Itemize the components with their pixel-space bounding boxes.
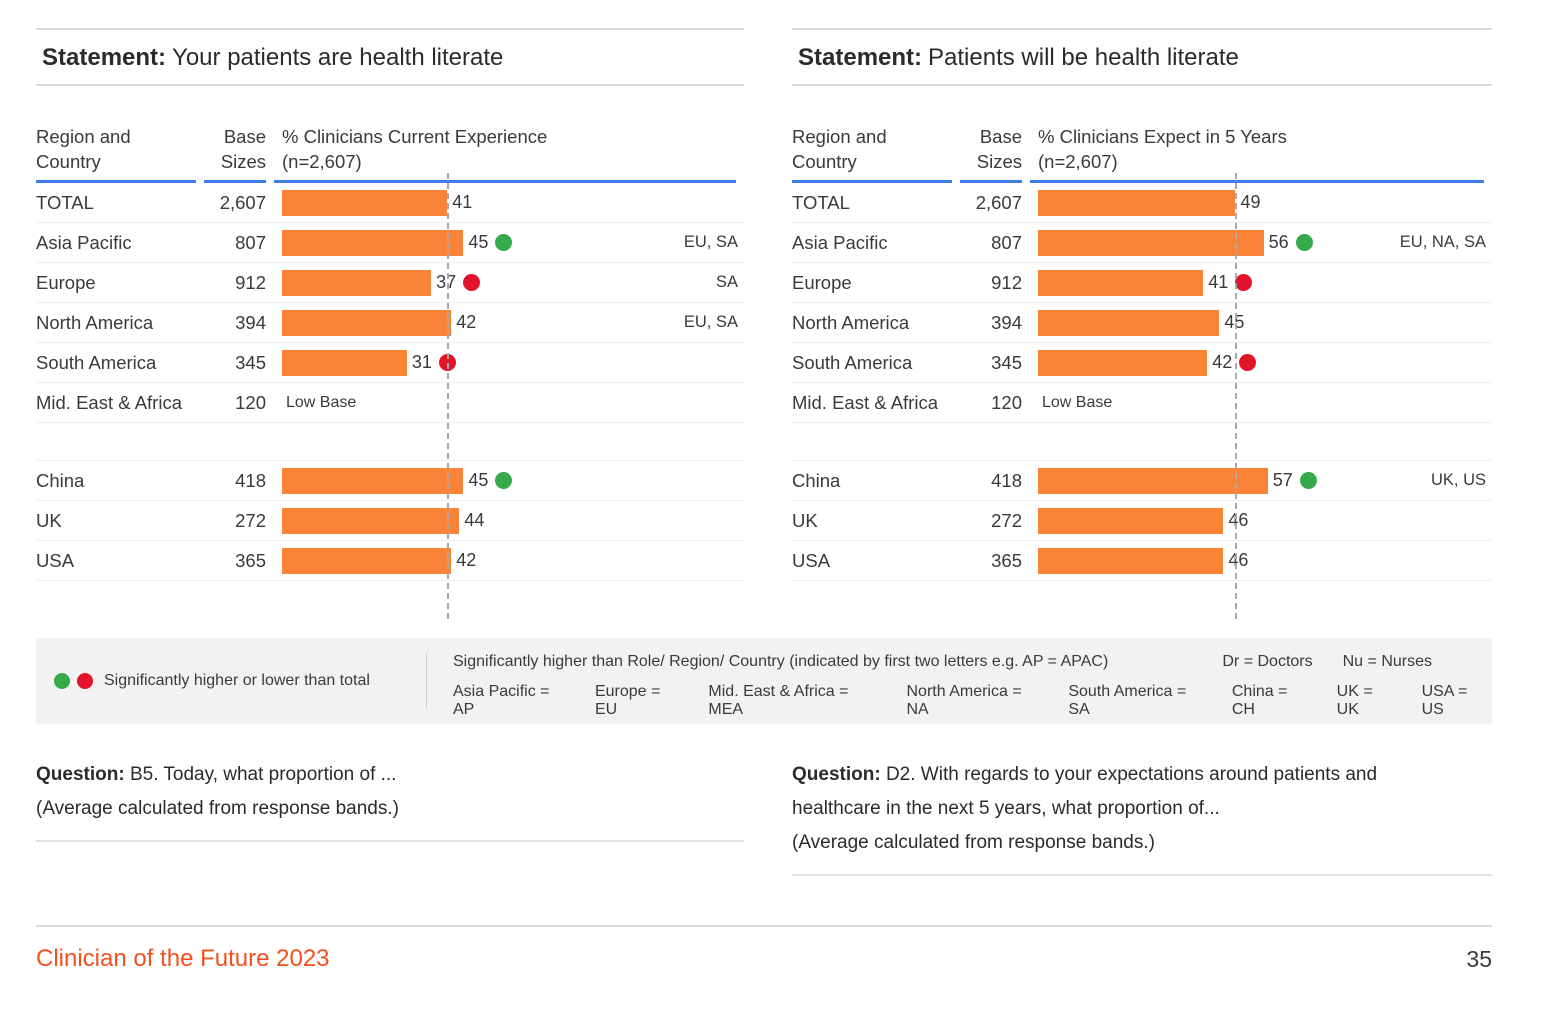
footer: Clinician of the Future 2023 35	[36, 945, 1492, 973]
row-bar-cell: 42	[1030, 343, 1492, 382]
row-bar-cell: 42EU, SA	[274, 303, 744, 342]
question-line: healthcare in the next 5 years, what pro…	[792, 792, 1492, 826]
row-label: China	[36, 461, 196, 500]
row-bar-cell: 41	[274, 183, 744, 222]
table-row: South America34542	[792, 343, 1492, 383]
question-divider-left	[36, 840, 744, 842]
header-base-sizes: Base Sizes	[204, 124, 266, 183]
row-base-size: 2,607	[960, 183, 1022, 222]
question-label: Question:	[36, 764, 125, 785]
bar-value-label: 45	[1224, 312, 1244, 333]
legend-region-abbrev: UK = UK	[1337, 683, 1398, 719]
row-label: USA	[36, 541, 196, 580]
legend-region-abbrev: Europe = EU	[595, 683, 684, 719]
table-row: South America34531	[36, 343, 744, 383]
row-base-size: 807	[960, 223, 1022, 262]
row-label: North America	[792, 303, 952, 342]
question-line: (Average calculated from response bands.…	[36, 792, 744, 826]
row-base-size: 418	[960, 461, 1022, 500]
row-base-size: 272	[204, 501, 266, 540]
panel-left: Statement:Your patients are health liter…	[36, 0, 744, 619]
header-region: Region and Country	[792, 124, 952, 183]
bar-value-label: 42	[1212, 352, 1232, 373]
header-base-line2: Sizes	[960, 149, 1022, 174]
row-bar-cell: 56EU, NA, SA	[1030, 223, 1492, 262]
question-text-left: Question: B5. Today, what proportion of …	[36, 758, 744, 826]
low-base-note: Low Base	[282, 394, 356, 412]
significantly-lower-dot-icon	[439, 354, 456, 371]
table-row: TOTAL2,60749	[792, 183, 1492, 223]
table-row: Asia Pacific80756EU, NA, SA	[792, 223, 1492, 263]
row-bar-cell: 46	[1030, 501, 1492, 540]
question-line-1: healthcare in the next 5 years, what pro…	[792, 798, 1220, 819]
table-bottom-spacer	[792, 581, 1492, 619]
row-label: Mid. East & Africa	[36, 383, 196, 422]
bar-value-label: 44	[464, 510, 484, 531]
significance-vs-letters: EU, SA	[684, 313, 738, 332]
header-chart-line2: (n=2,607)	[1038, 149, 1484, 174]
bar	[1038, 270, 1203, 296]
bar	[282, 270, 431, 296]
statement-right: Statement:Patients will be health litera…	[792, 30, 1492, 84]
legend-region-abbrev: Mid. East & Africa = MEA	[708, 683, 882, 719]
row-label: Mid. East & Africa	[792, 383, 952, 422]
slide: Statement:Your patients are health liter…	[0, 0, 1564, 1022]
header-base-line1: Base	[204, 124, 266, 149]
row-base-size: 2,607	[204, 183, 266, 222]
header-base-line1: Base	[960, 124, 1022, 149]
row-bar-cell: 41	[1030, 263, 1492, 302]
row-label: Europe	[36, 263, 196, 302]
legend-divider	[426, 653, 427, 709]
table-row: China41857UK, US	[792, 461, 1492, 501]
significantly-lower-dot-icon	[463, 274, 480, 291]
row-label: South America	[36, 343, 196, 382]
footer-divider	[36, 925, 1492, 927]
question-line-2: (Average calculated from response bands.…	[792, 832, 1155, 853]
bar-value-label: 45	[468, 470, 488, 491]
legend-region-abbrev: USA = US	[1422, 683, 1492, 719]
table-row: UK27244	[36, 501, 744, 541]
bar	[1038, 468, 1268, 494]
bar-value-label: 41	[452, 192, 472, 213]
bar	[1038, 508, 1223, 534]
table-group-spacer	[36, 423, 744, 461]
legend-role-abbrev: Nu = Nurses	[1343, 653, 1432, 670]
legend: Significantly higher or lower than total…	[36, 638, 1492, 724]
table-row: USA36546	[792, 541, 1492, 581]
question-label: Question:	[792, 764, 881, 785]
significantly-higher-dot-icon	[1300, 472, 1317, 489]
table-row: Europe91237SA	[36, 263, 744, 303]
row-base-size: 365	[960, 541, 1022, 580]
question-line: Question: D2. With regards to your expec…	[792, 758, 1492, 792]
header-region-line2: Country	[36, 149, 196, 174]
question-block-left: Question: B5. Today, what proportion of …	[36, 758, 744, 842]
table-right: Region and Country Base Sizes % Clinicia…	[792, 124, 1492, 619]
header-chart: % Clinicians Current Experience (n=2,607…	[274, 124, 736, 183]
legend-significance-text: Significantly higher or lower than total	[104, 672, 370, 690]
bar	[282, 230, 463, 256]
table-body-right: TOTAL2,60749Asia Pacific80756EU, NA, SAE…	[792, 183, 1492, 619]
row-bar-cell: 44	[274, 501, 744, 540]
header-region-line2: Country	[792, 149, 952, 174]
table-left: Region and Country Base Sizes % Clinicia…	[36, 124, 744, 619]
legend-significance: Significantly higher or lower than total	[36, 672, 426, 690]
row-base-size: 394	[960, 303, 1022, 342]
legend-details: Significantly higher than Role/ Region/ …	[453, 651, 1492, 711]
row-label: Asia Pacific	[792, 223, 952, 262]
question-line: (Average calculated from response bands.…	[792, 826, 1492, 860]
statement-text: Your patients are health literate	[172, 44, 503, 71]
row-label: UK	[792, 501, 952, 540]
panel-right: Statement:Patients will be health litera…	[792, 0, 1492, 619]
table-row: Europe91241	[792, 263, 1492, 303]
significantly-lower-dot-icon	[1239, 354, 1256, 371]
row-label: South America	[792, 343, 952, 382]
row-label: USA	[792, 541, 952, 580]
question-line-0: D2. With regards to your expectations ar…	[886, 764, 1377, 785]
row-base-size: 912	[204, 263, 266, 302]
row-bar-cell: Low Base	[1030, 383, 1492, 422]
legend-region-abbrev: South America = SA	[1068, 683, 1208, 719]
bar-value-label: 45	[468, 232, 488, 253]
table-body-left: TOTAL2,60741Asia Pacific80745EU, SAEurop…	[36, 183, 744, 619]
bar	[282, 468, 463, 494]
table-row: Asia Pacific80745EU, SA	[36, 223, 744, 263]
bar-value-label: 49	[1240, 192, 1260, 213]
question-block-right: Question: D2. With regards to your expec…	[792, 758, 1492, 876]
row-label: China	[792, 461, 952, 500]
statement-label: Statement:	[798, 44, 922, 71]
row-base-size: 272	[960, 501, 1022, 540]
header-region-line1: Region and	[36, 124, 196, 149]
row-label: Asia Pacific	[36, 223, 196, 262]
bar	[282, 310, 451, 336]
header-chart: % Clinicians Expect in 5 Years (n=2,607)	[1030, 124, 1484, 183]
significance-vs-letters: EU, SA	[684, 233, 738, 252]
legend-role-abbrev: Dr = Doctors	[1222, 653, 1312, 670]
bar	[1038, 548, 1223, 574]
significantly-higher-dot-icon	[54, 673, 70, 689]
statement-label: Statement:	[42, 44, 166, 71]
table-row: USA36542	[36, 541, 744, 581]
header-chart-line1: % Clinicians Current Experience	[282, 124, 736, 149]
row-label: UK	[36, 501, 196, 540]
row-base-size: 912	[960, 263, 1022, 302]
footer-brand: Clinician of the Future 2023	[36, 945, 330, 973]
table-row: TOTAL2,60741	[36, 183, 744, 223]
statement-left: Statement:Your patients are health liter…	[36, 30, 744, 84]
statement-text: Patients will be health literate	[928, 44, 1239, 71]
divider-bottom-right	[792, 84, 1492, 86]
low-base-note: Low Base	[1038, 394, 1112, 412]
bar	[1038, 190, 1235, 216]
legend-region-abbrev: China = CH	[1232, 683, 1313, 719]
significance-vs-letters: EU, NA, SA	[1400, 233, 1486, 252]
header-base-line2: Sizes	[204, 149, 266, 174]
table-bottom-spacer	[36, 581, 744, 619]
table-row: North America39445	[792, 303, 1492, 343]
row-bar-cell: 31	[274, 343, 744, 382]
row-base-size: 418	[204, 461, 266, 500]
row-bar-cell: Low Base	[274, 383, 744, 422]
table-row: North America39442EU, SA	[36, 303, 744, 343]
legend-roles: Dr = DoctorsNu = Nurses	[1222, 653, 1432, 671]
bar	[282, 548, 451, 574]
significance-vs-letters: UK, US	[1431, 471, 1486, 490]
question-divider-right	[792, 874, 1492, 876]
significantly-higher-dot-icon	[495, 234, 512, 251]
row-label: North America	[36, 303, 196, 342]
header-chart-line2: (n=2,607)	[282, 149, 736, 174]
row-bar-cell: 37SA	[274, 263, 744, 302]
row-bar-cell: 57UK, US	[1030, 461, 1492, 500]
header-region: Region and Country	[36, 124, 196, 183]
legend-abbreviations: Asia Pacific = APEurope = EUMid. East & …	[453, 683, 1492, 719]
row-base-size: 120	[960, 383, 1022, 422]
row-label: Europe	[792, 263, 952, 302]
bar-value-label: 46	[1228, 510, 1248, 531]
significantly-higher-dot-icon	[495, 472, 512, 489]
question-text-right: Question: D2. With regards to your expec…	[792, 758, 1492, 860]
row-base-size: 807	[204, 223, 266, 262]
row-label: TOTAL	[36, 183, 196, 222]
bar	[1038, 350, 1207, 376]
bar-value-label: 41	[1208, 272, 1228, 293]
question-line-1: (Average calculated from response bands.…	[36, 798, 399, 819]
table-row: China41845	[36, 461, 744, 501]
bar-value-label: 56	[1269, 232, 1289, 253]
table-row: Mid. East & Africa120Low Base	[36, 383, 744, 423]
bar	[282, 190, 447, 216]
bar-value-label: 31	[412, 352, 432, 373]
row-bar-cell: 42	[274, 541, 744, 580]
bar	[1038, 230, 1264, 256]
row-base-size: 345	[204, 343, 266, 382]
legend-dots	[54, 673, 93, 689]
divider-bottom-left	[36, 84, 744, 86]
row-base-size: 365	[204, 541, 266, 580]
bar-value-label: 57	[1273, 470, 1293, 491]
bar	[1038, 310, 1219, 336]
footer-page-number: 35	[1466, 946, 1492, 973]
row-bar-cell: 45	[274, 461, 744, 500]
header-base-sizes: Base Sizes	[960, 124, 1022, 183]
significantly-lower-dot-icon	[77, 673, 93, 689]
row-base-size: 345	[960, 343, 1022, 382]
table-header-left: Region and Country Base Sizes % Clinicia…	[36, 124, 744, 183]
significantly-lower-dot-icon	[1235, 274, 1252, 291]
table-group-spacer	[792, 423, 1492, 461]
legend-region-abbrev: North America = NA	[907, 683, 1045, 719]
table-row: UK27246	[792, 501, 1492, 541]
row-bar-cell: 46	[1030, 541, 1492, 580]
bar	[282, 350, 407, 376]
table-header-right: Region and Country Base Sizes % Clinicia…	[792, 124, 1492, 183]
significantly-higher-dot-icon	[1296, 234, 1313, 251]
header-chart-line1: % Clinicians Expect in 5 Years	[1038, 124, 1484, 149]
question-line: Question: B5. Today, what proportion of …	[36, 758, 744, 792]
significance-vs-letters: SA	[716, 273, 738, 292]
row-bar-cell: 45EU, SA	[274, 223, 744, 262]
row-label: TOTAL	[792, 183, 952, 222]
bar-value-label: 42	[456, 312, 476, 333]
table-row: Mid. East & Africa120Low Base	[792, 383, 1492, 423]
row-bar-cell: 45	[1030, 303, 1492, 342]
row-base-size: 394	[204, 303, 266, 342]
header-region-line1: Region and	[792, 124, 952, 149]
bar-value-label: 42	[456, 550, 476, 571]
bar-value-label: 46	[1228, 550, 1248, 571]
row-bar-cell: 49	[1030, 183, 1492, 222]
question-line-0: B5. Today, what proportion of ...	[130, 764, 397, 785]
bar-value-label: 37	[436, 272, 456, 293]
bar	[282, 508, 459, 534]
row-base-size: 120	[204, 383, 266, 422]
legend-region-abbrev: Asia Pacific = AP	[453, 683, 571, 719]
